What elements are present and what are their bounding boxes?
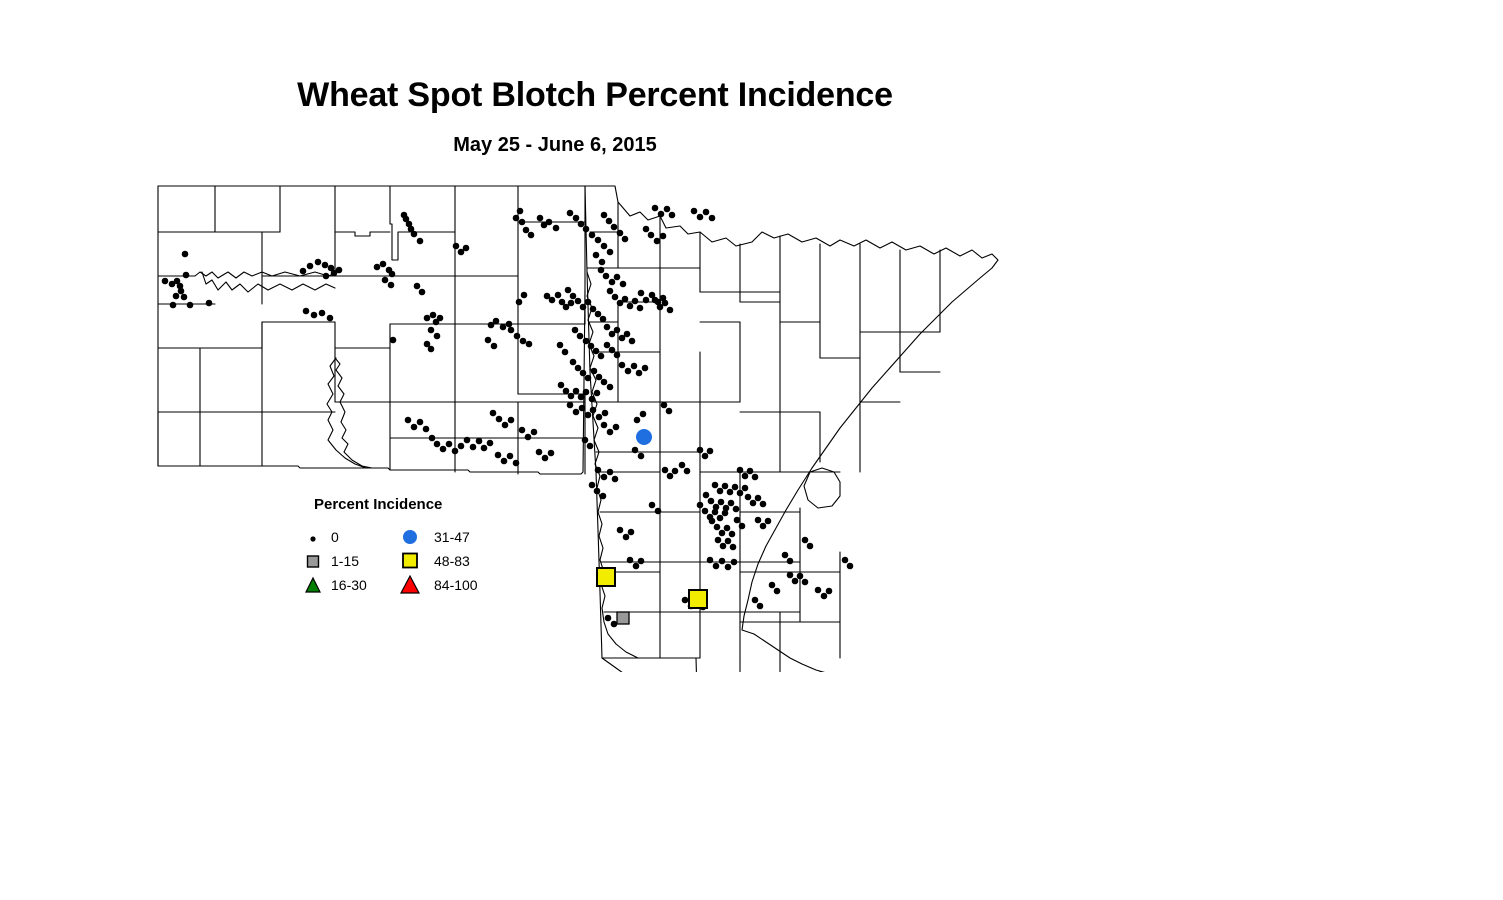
marker-zero [565,287,572,294]
marker-zero [453,243,460,250]
marker-zero [613,424,620,431]
marker-zero [568,393,575,400]
marker-zero [508,327,515,334]
marker-zero [585,412,592,419]
marker-zero [731,559,738,566]
marker-zero [713,563,720,570]
marker-zero [187,302,194,309]
marker-zero [718,499,725,506]
marker-yellow-square [597,568,615,586]
marker-zero [847,563,854,570]
marker-zero [625,368,632,375]
page-subtitle: May 25 - June 6, 2015 [0,134,1110,157]
marker-zero [585,299,592,306]
marker-zero [481,445,488,452]
marker-zero [570,293,577,300]
marker-zero [419,289,426,296]
marker-zero [697,214,704,221]
marker-zero [722,483,729,490]
marker-zero [390,337,397,344]
marker-zero [598,353,605,360]
minnesota-river [602,658,756,672]
marker-zero [580,304,587,311]
marker-blue-circle [636,429,652,445]
marker-zero [697,447,704,454]
marker-zero [672,468,679,475]
marker-zero [609,347,616,354]
marker-zero [601,243,608,250]
marker-zero [526,341,533,348]
marker-zero [417,238,424,245]
marker-zero [577,333,584,340]
marker-zero [300,268,307,275]
legend-label-0: 0 [331,529,339,545]
marker-zero [428,327,435,334]
marker-zero [495,452,502,459]
marker-zero [607,249,614,256]
marker-zero [603,273,610,280]
marker-zero [725,564,732,571]
marker-zero [430,312,437,319]
marker-zero [802,579,809,586]
marker-zero [502,422,509,429]
marker-zero [797,573,804,580]
marker-zero [660,233,667,240]
marker-zero [521,292,528,299]
marker-zero [638,453,645,460]
marker-zero [691,208,698,215]
marker-zero [640,411,647,418]
marker-zero [614,352,621,359]
marker-zero [802,537,809,544]
marker-zero [170,302,177,309]
marker-zero [627,557,634,564]
marker-zero [591,368,598,375]
marker-zero [548,450,555,457]
marker-zero [589,482,596,489]
marker-zero [485,337,492,344]
marker-zero [821,593,828,600]
marker-zero [649,502,656,509]
marker-zero [583,226,590,233]
marker-zero [728,500,735,507]
marker-zero [513,460,520,467]
marker-zero [500,324,507,331]
marker-zero [601,379,608,386]
marker-zero [589,396,596,403]
marker-zero [752,474,759,481]
marker-zero [787,558,794,565]
marker-zero [712,482,719,489]
marker-zero [627,303,634,310]
marker-zero [487,440,494,447]
marker-zero [514,333,521,340]
marker-zero [557,342,564,349]
marker-zero [563,388,570,395]
marker-zero [593,252,600,259]
marker-zero [596,414,603,421]
marker-zero [380,261,387,268]
marker-zero [601,422,608,429]
marker-zero [629,338,636,345]
marker-zero [734,517,741,524]
marker-zero [648,232,655,239]
red-river [587,272,638,658]
marker-zero [562,349,569,356]
marker-zero [707,557,714,564]
marker-zero [652,205,659,212]
marker-zero [632,447,639,454]
marker-zero [464,437,471,444]
marker-zero [517,208,524,215]
marker-zero [669,212,676,219]
marker-zero [311,312,318,319]
marker-zero [604,342,611,349]
marker-zero [582,437,589,444]
marker-zero [428,346,435,353]
marker-zero [745,494,752,501]
marker-zero [609,279,616,286]
marker-zero [702,453,709,460]
marker-zero [600,316,607,323]
marker-zero [573,388,580,395]
marker-zero [717,488,724,495]
marker-zero [667,473,674,480]
marker-zero [525,434,532,441]
marker-zero [528,232,535,239]
marker-zero [437,315,444,322]
marker-zero [598,267,605,274]
marker-zero [747,468,754,475]
marker-zero [826,588,833,595]
marker-zero [411,424,418,431]
marker-zero [722,510,729,517]
marker-layer-grey [617,612,629,624]
marker-zero [323,273,330,280]
marker-zero [601,474,608,481]
legend: Percent Incidence 0 1-15 16-30 [305,496,515,608]
marker-zero [662,467,669,474]
marker-zero [585,375,592,382]
yellow-square-icon [400,550,422,572]
marker-zero [755,517,762,524]
marker-zero [594,390,601,397]
marker-zero [617,230,624,237]
marker-zero [520,338,527,345]
marker-zero [322,262,329,269]
marker-zero [183,272,190,279]
marker-zero [555,292,562,299]
marker-zero [542,455,549,462]
marker-zero [589,232,596,239]
marker-zero [590,306,597,313]
marker-zero [708,498,715,505]
marker-zero [602,410,609,417]
marker-zero [719,530,726,537]
marker-zero [611,224,618,231]
marker-zero [607,384,614,391]
legend-label-2: 16-30 [331,577,367,593]
marker-zero [752,597,759,604]
marker-zero [516,299,523,306]
marker-zero [424,315,431,322]
grey-square-icon [305,550,327,572]
marker-zero [307,263,314,270]
marker-zero [652,297,659,304]
marker-zero [612,294,619,301]
marker-zero [815,587,822,594]
legend-title: Percent Incidence [314,496,442,513]
marker-zero [452,448,459,455]
marker-zero [682,597,689,604]
marker-zero [742,485,749,492]
marker-zero [575,365,582,372]
marker-zero [634,417,641,424]
marker-zero [595,311,602,318]
marker-zero [490,410,497,417]
marker-zero [842,557,849,564]
marker-zero [601,212,608,219]
figure-canvas: Wheat Spot Blotch Percent Incidence May … [0,0,1503,900]
marker-zero [181,294,188,301]
marker-zero [807,543,814,550]
marker-zero [423,426,430,433]
marker-zero [595,237,602,244]
marker-zero [750,500,757,507]
marker-zero [709,518,716,525]
marker-zero [717,515,724,522]
marker-zero [774,588,781,595]
marker-zero [414,283,421,290]
marker-zero [727,489,734,496]
marker-zero [429,435,436,442]
marker-zero [729,531,736,538]
minnesota-outline [585,186,998,672]
marker-zero [496,416,503,423]
marker-zero [607,288,614,295]
marker-zero [513,215,520,222]
marker-zero [546,219,553,226]
incidence-map [140,172,1000,672]
marker-grey-square [617,612,629,624]
marker-zero [501,458,508,465]
marker-zero [730,544,737,551]
marker-zero [374,264,381,271]
marker-zero [719,558,726,565]
marker-zero [519,427,526,434]
marker-zero [643,297,650,304]
marker-zero [595,467,602,474]
marker-zero [382,277,389,284]
marker-zero [667,307,674,314]
marker-zero [733,506,740,513]
marker-zero [596,374,603,381]
marker-zero [388,282,395,289]
marker-zero [507,453,514,460]
marker-zero [590,407,597,414]
marker-zero [638,290,645,297]
marker-zero [614,327,621,334]
marker-zero [389,271,396,278]
marker-zero [593,348,600,355]
marker-zero [628,529,635,536]
marker-layer-blue [636,429,652,445]
marker-zero [703,492,710,499]
marker-zero [679,462,686,469]
marker-zero [714,524,721,531]
marker-zero [182,251,189,258]
marker-zero [622,236,629,243]
marker-zero [579,405,586,412]
marker-zero [587,443,594,450]
marker-zero [792,578,799,585]
marker-zero [715,537,722,544]
marker-zero [697,502,704,509]
marker-zero [724,525,731,532]
marker-zero [575,298,582,305]
marker-zero [206,300,213,307]
mille-lacs-lake [804,468,840,508]
marker-zero [622,296,629,303]
marker-zero [567,210,574,217]
marker-zero [531,429,538,436]
marker-zero [303,308,310,315]
marker-zero [782,552,789,559]
state-county-outlines [158,186,998,672]
marker-zero [583,389,590,396]
marker-zero [624,331,631,338]
marker-zero [637,305,644,312]
marker-zero [572,327,579,334]
marker-zero [537,215,544,222]
marker-zero [458,443,465,450]
red-triangle-icon [400,574,422,596]
marker-zero [519,219,526,226]
marker-zero [605,615,612,622]
marker-zero [594,488,601,495]
marker-zero [599,259,606,266]
legend-label-4: 48-83 [434,553,470,569]
marker-zero [568,300,575,307]
blue-circle-icon [400,526,422,548]
marker-zero [319,310,326,317]
marker-zero [638,558,645,565]
marker-zero [434,441,441,448]
marker-zero [315,259,322,266]
marker-zero [684,468,691,475]
marker-zero [636,370,643,377]
marker-zero [611,621,618,628]
marker-zero [580,370,587,377]
marker-zero [612,476,619,483]
marker-zero [787,572,794,579]
marker-zero [664,206,671,213]
marker-zero [588,343,595,350]
marker-zero [757,603,764,610]
legend-label-3: 31-47 [434,529,470,545]
marker-zero [578,394,585,401]
marker-zero [604,324,611,331]
marker-zero [661,402,668,409]
marker-zero [709,215,716,222]
marker-zero [655,508,662,515]
marker-zero [631,363,638,370]
marker-zero [643,226,650,233]
small-dot-icon [305,526,327,548]
marker-zero [536,449,543,456]
marker-zero [476,438,483,445]
marker-zero [720,543,727,550]
marker-zero [606,218,613,225]
marker-zero [173,293,180,300]
marker-zero [642,365,649,372]
marker-zero [578,221,585,228]
marker-zero [607,429,614,436]
marker-zero [617,527,624,534]
marker-zero [508,417,515,424]
legend-label-1: 1-15 [331,553,359,569]
marker-zero [549,297,556,304]
marker-zero [523,227,530,234]
marker-zero [760,523,767,530]
marker-zero [712,509,719,516]
marker-zero [405,417,412,424]
marker-zero [463,245,470,252]
marker-zero [493,318,500,325]
marker-zero [336,267,343,274]
marker-zero [470,444,477,451]
marker-zero [178,288,185,295]
marker-zero [739,523,746,530]
marker-zero [583,338,590,345]
marker-zero [632,298,639,305]
marker-zero [620,281,627,288]
marker-zero [742,473,749,480]
marker-zero [662,300,669,307]
page-title: Wheat Spot Blotch Percent Incidence [0,76,1190,115]
marker-zero [491,343,498,350]
marker-zero [703,209,710,216]
marker-zero [558,382,565,389]
marker-zero [737,467,744,474]
marker-zero [614,274,621,281]
marker-zero [440,446,447,453]
marker-zero [600,493,607,500]
marker-zero [658,211,665,218]
marker-zero [506,321,513,328]
marker-zero [765,518,772,525]
marker-zero [553,225,560,232]
marker-zero [567,402,574,409]
marker-zero [434,333,441,340]
marker-yellow-square [689,590,707,608]
marker-zero [737,490,744,497]
marker-zero [666,408,673,415]
marker-zero [607,469,614,476]
marker-zero [732,484,739,491]
marker-zero [707,448,714,455]
marker-layer-yellow [597,568,707,608]
marker-zero [573,409,580,416]
marker-zero [162,278,169,285]
marker-zero [769,582,776,589]
marker-zero [623,534,630,541]
marker-zero [327,315,334,322]
legend-label-5: 84-100 [434,577,478,593]
marker-zero [573,215,580,222]
marker-zero [633,563,640,570]
marker-zero [446,441,453,448]
